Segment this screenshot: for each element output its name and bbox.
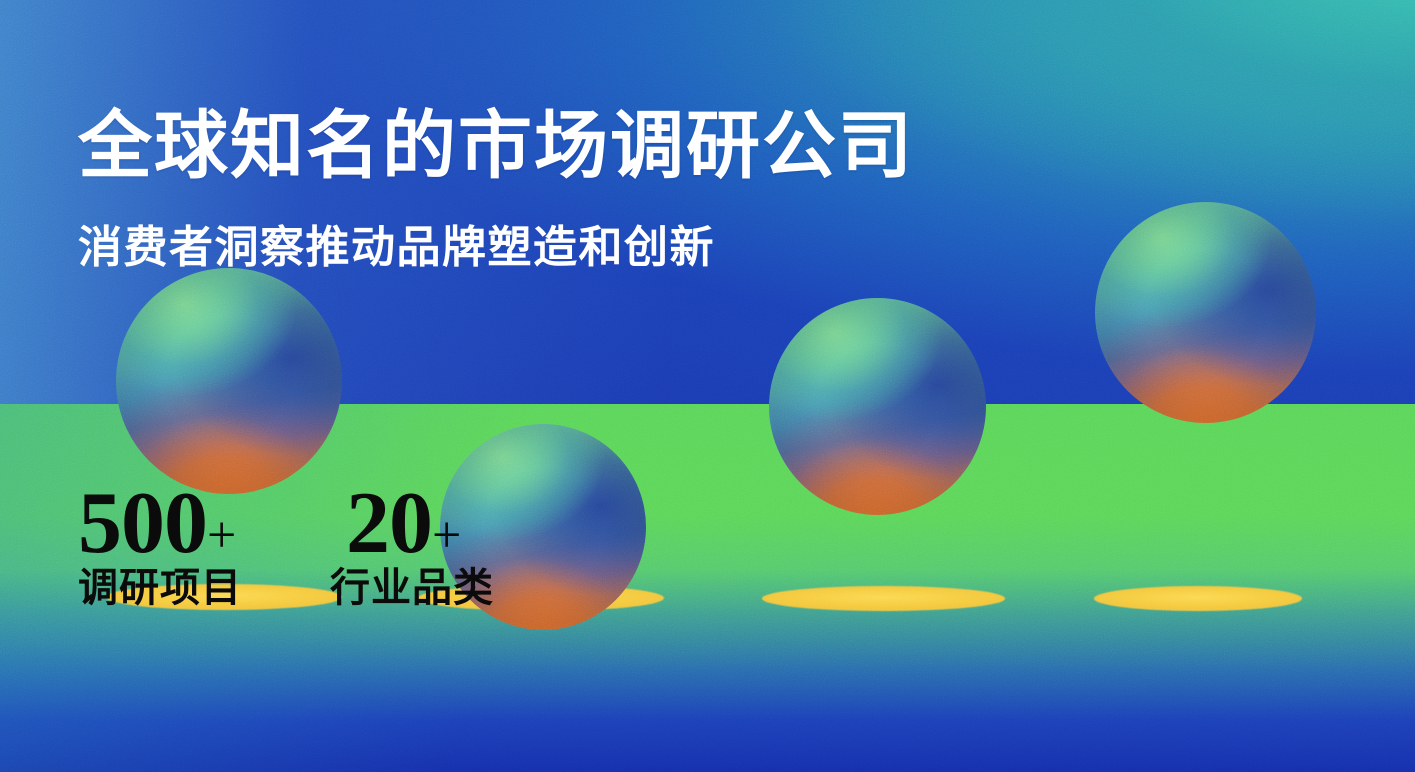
stat-value-0: 500+	[78, 480, 346, 568]
sphere-shadow-4	[1094, 586, 1302, 611]
decorative-sphere-1	[116, 268, 342, 494]
stat-suffix-1: +	[432, 507, 461, 564]
page-title: 全球知名的市场调研公司	[78, 110, 914, 184]
stat-number-0: 500	[78, 475, 207, 572]
stat-label-0: 调研项目	[78, 568, 330, 608]
stat-number-1: 20	[346, 475, 432, 572]
stat-label-1: 行业品类	[330, 568, 570, 608]
banner-stage: 全球知名的市场调研公司 消费者洞察推动品牌塑造和创新 500+ 20+ 调研项目…	[0, 0, 1415, 772]
sphere-shadow-3	[762, 586, 1005, 611]
stat-value-1: 20+	[346, 480, 586, 568]
stats-numbers-row: 500+ 20+	[78, 480, 586, 568]
page-subtitle: 消费者洞察推动品牌塑造和创新	[78, 222, 715, 273]
stats-block: 500+ 20+ 调研项目 行业品类	[78, 480, 586, 608]
decorative-sphere-4	[1095, 202, 1316, 423]
stat-suffix-0: +	[207, 507, 236, 564]
stats-labels-row: 调研项目 行业品类	[78, 568, 586, 608]
decorative-sphere-3	[769, 298, 986, 515]
